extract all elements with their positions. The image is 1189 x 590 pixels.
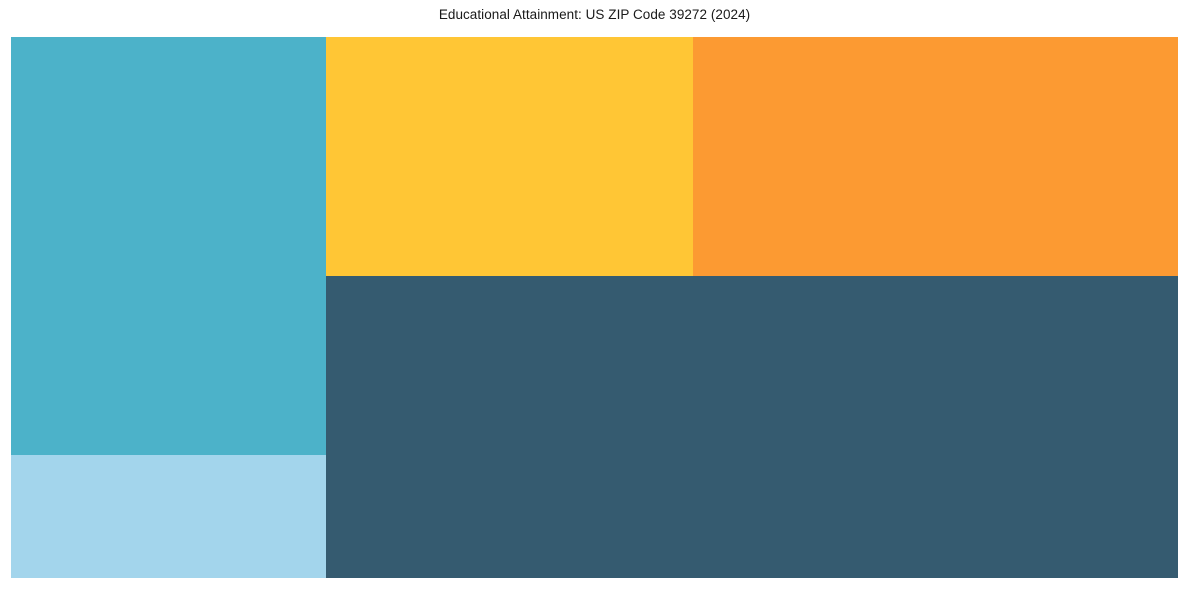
treemap-tile[interactable]: Graduate or professional degree xyxy=(326,276,1178,578)
treemap-tile[interactable]: Less than high school xyxy=(11,455,326,578)
treemap-tile[interactable]: Some college, no degree xyxy=(11,37,326,455)
treemap-tile[interactable]: Bachelor's degree xyxy=(693,37,1178,276)
treemap-figure: Educational Attainment: US ZIP Code 3927… xyxy=(0,0,1189,590)
treemap-tile[interactable]: High school graduate xyxy=(326,37,693,276)
treemap-plot-area: Some college, no degreeHigh school gradu… xyxy=(11,37,1178,578)
page-title: Educational Attainment: US ZIP Code 3927… xyxy=(0,0,1189,37)
